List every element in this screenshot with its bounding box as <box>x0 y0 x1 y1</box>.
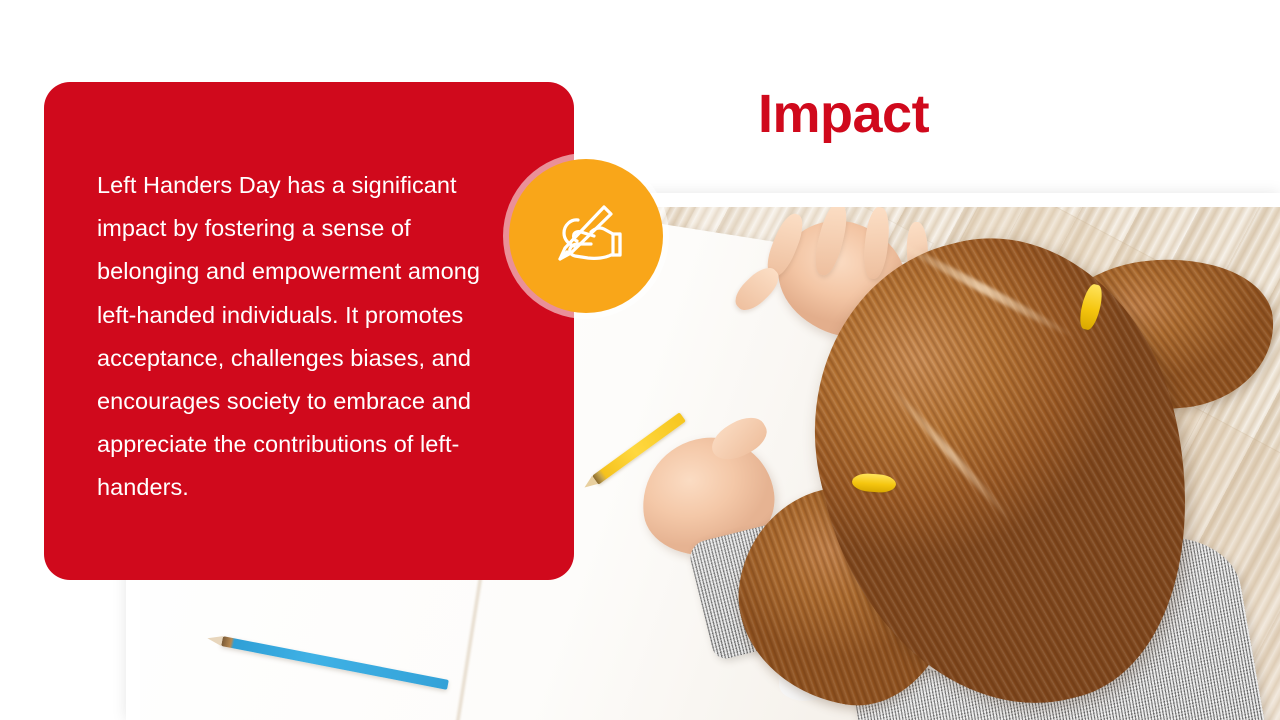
writing-hand-icon <box>547 201 625 271</box>
child-head <box>824 238 1280 720</box>
impact-body-text: Left Handers Day has a significant impac… <box>97 164 511 510</box>
icon-badge <box>509 159 663 313</box>
page-title: Impact <box>758 86 929 143</box>
impact-text-card: Left Handers Day has a significant impac… <box>44 82 574 580</box>
slide-canvas: Impact <box>0 0 1280 720</box>
